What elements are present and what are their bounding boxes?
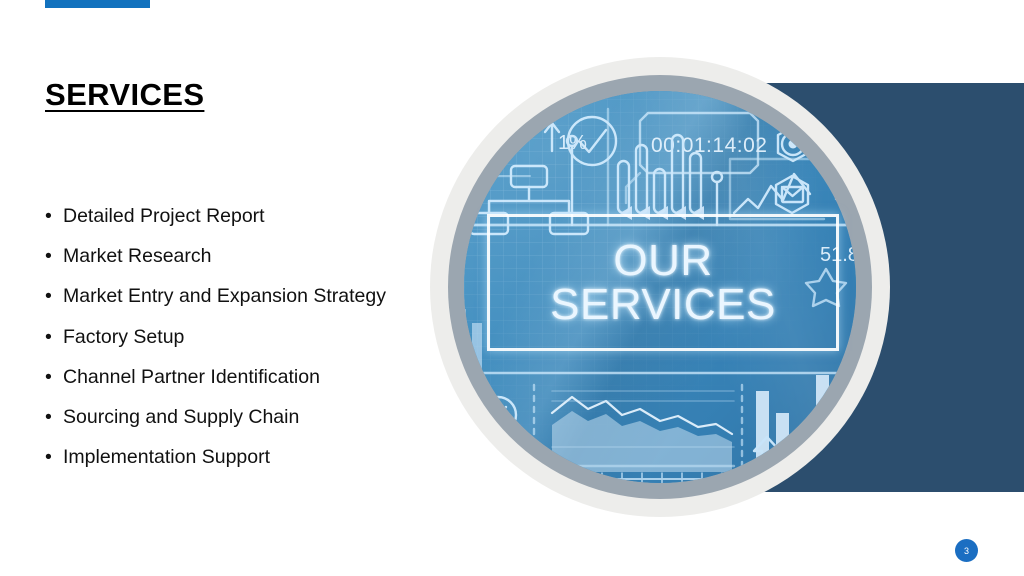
list-item: • Sourcing and Supply Chain <box>44 404 432 432</box>
bullet-dot-icon: • <box>45 243 52 271</box>
slide-canvas: SERVICES • Detailed Project Report • Mar… <box>0 0 1024 576</box>
close-circle-icon <box>467 385 516 469</box>
list-item: • Factory Setup <box>44 324 432 352</box>
services-bullet-list: • Detailed Project Report • Market Resea… <box>44 203 432 484</box>
bullet-dot-icon: • <box>45 404 52 432</box>
bullet-dot-icon: • <box>45 324 52 352</box>
top-accent-bar <box>45 0 150 8</box>
list-item-label: Detailed Project Report <box>63 205 265 227</box>
side-bars-icon <box>464 309 482 379</box>
bullet-dot-icon: • <box>45 364 52 392</box>
list-item-label: Market Research <box>63 245 211 267</box>
star-icon <box>806 269 846 306</box>
photo-inner: 1% 00:01:14:02 <box>464 91 856 483</box>
page-number-badge: 3 <box>955 539 978 562</box>
chevron-left-icon <box>620 206 704 220</box>
percent-value-label: 51.89% <box>820 244 856 266</box>
services-circular-image: 1% 00:01:14:02 <box>430 57 890 517</box>
svg-text:00:01:14:02: 00:01:14:02 <box>651 134 767 157</box>
axis-ticks <box>550 473 732 483</box>
bullet-dot-icon: • <box>45 203 52 231</box>
list-item-label: Market Entry and Expansion Strategy <box>63 285 386 307</box>
bullet-dot-icon: • <box>45 444 52 472</box>
bullet-dot-icon: • <box>45 283 52 311</box>
list-item-label: Factory Setup <box>63 326 184 348</box>
list-item: • Implementation Support <box>44 444 432 472</box>
list-item: • Channel Partner Identification <box>44 364 432 392</box>
list-item: • Market Research <box>44 243 432 271</box>
list-item-label: Sourcing and Supply Chain <box>63 406 299 428</box>
area-chart-icon <box>552 391 734 472</box>
list-item-label: Implementation Support <box>63 446 270 468</box>
infographic-photo: 1% 00:01:14:02 <box>464 91 856 483</box>
target-hexagon-icon <box>778 127 808 161</box>
page-title: SERVICES <box>45 78 204 112</box>
list-item: • Market Entry and Expansion Strategy <box>44 283 432 311</box>
lightbulb-icon <box>830 153 856 199</box>
infographic-vector-layer: 1% 00:01:14:02 <box>464 91 856 483</box>
list-item: • Detailed Project Report <box>44 203 432 231</box>
mini-bar-glyph <box>474 123 505 152</box>
percent-arrow-icon: 1% <box>545 123 587 154</box>
list-item-label: Channel Partner Identification <box>63 366 320 388</box>
